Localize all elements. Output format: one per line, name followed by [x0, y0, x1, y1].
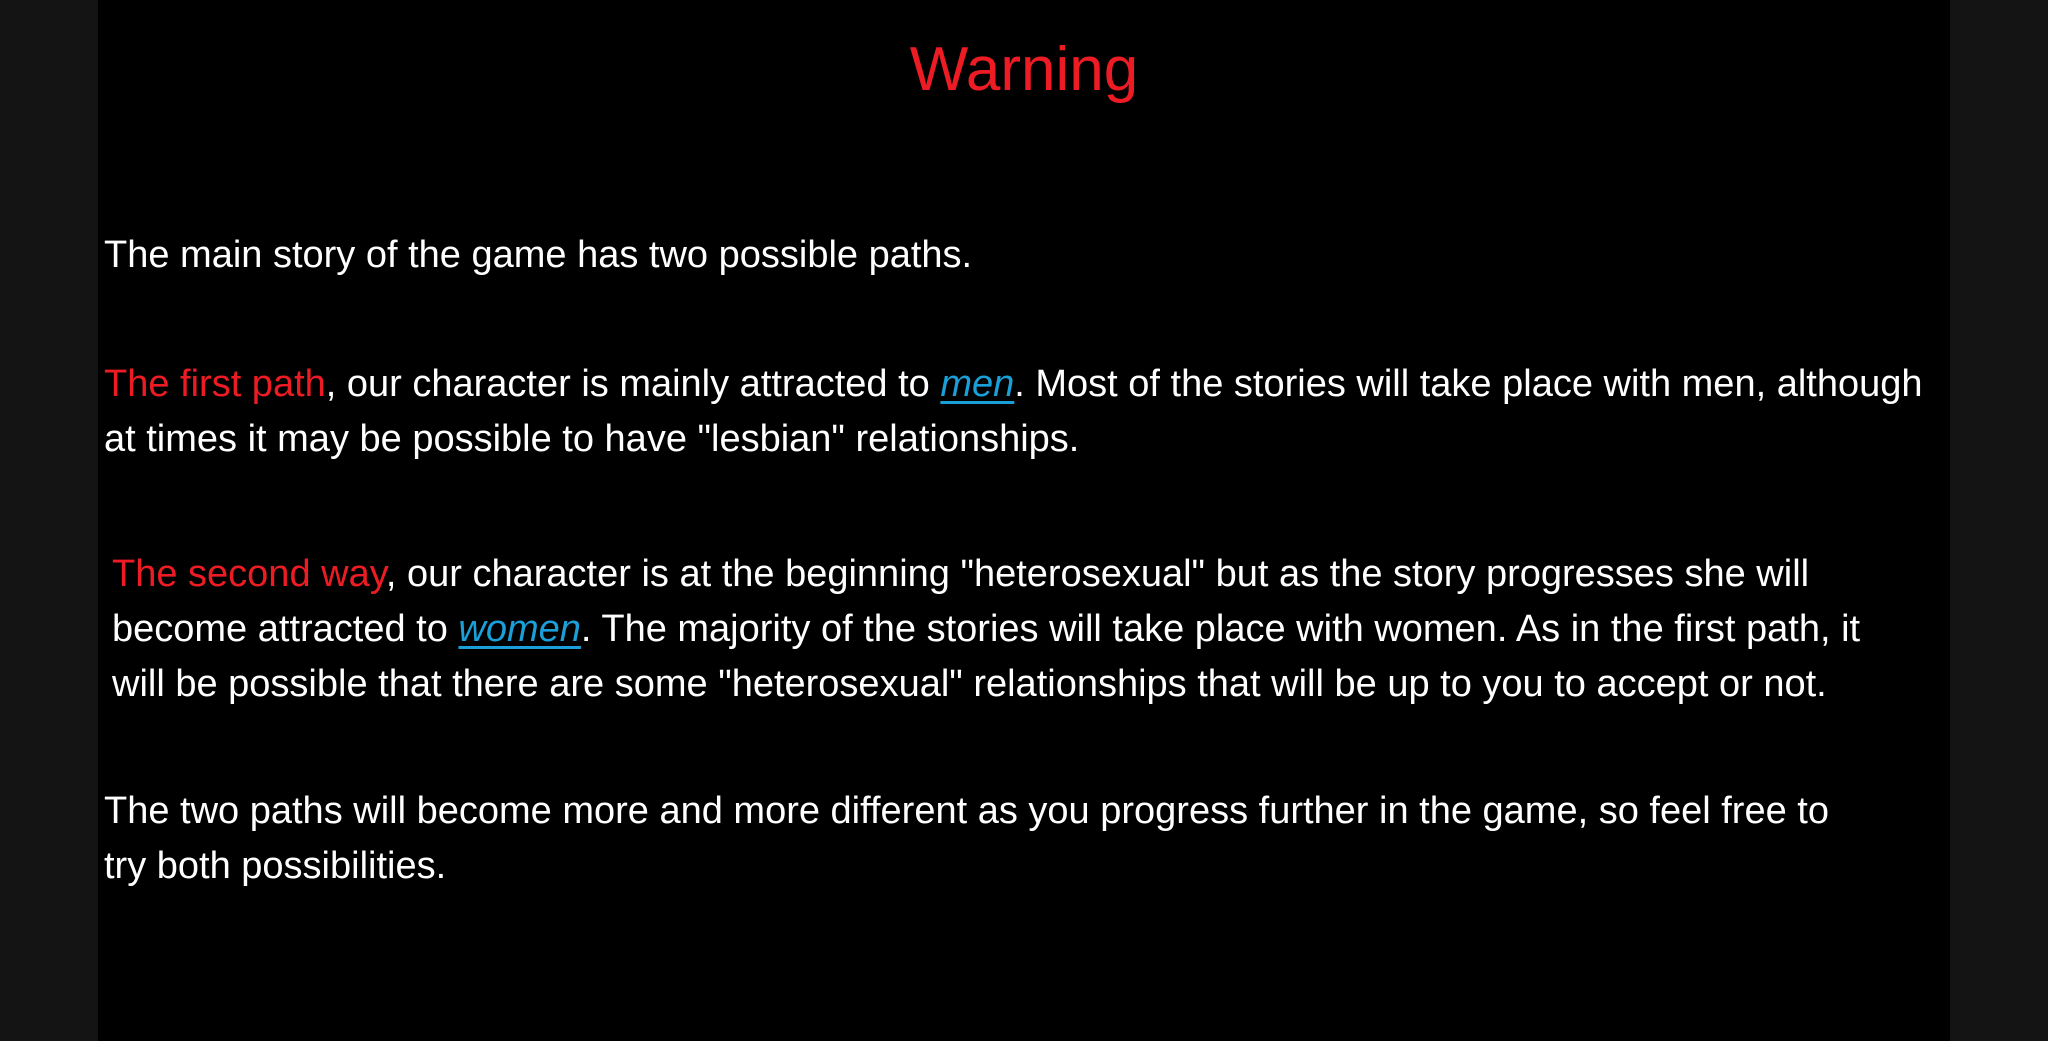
left-letterbox-band — [0, 0, 98, 1041]
paragraph-intro: The main story of the game has two possi… — [104, 228, 1944, 283]
page-title: Warning — [98, 36, 1950, 104]
right-letterbox-band — [1950, 0, 2048, 1041]
slide-screen: Warning The main story of the game has t… — [0, 0, 2048, 1041]
paragraph-intro-text: The main story of the game has two possi… — [104, 234, 972, 276]
first-path-text-before-link: , our character is mainly attracted to — [326, 363, 941, 405]
paragraph-outro-text: The two paths will become more and more … — [104, 790, 1829, 887]
slide-body: The main story of the game has two possi… — [104, 228, 1944, 894]
second-way-label: The second way — [112, 553, 386, 595]
link-women[interactable]: women — [458, 608, 581, 650]
paragraph-second-way: The second way, our character is at the … — [112, 547, 1912, 712]
first-path-label: The first path — [104, 363, 326, 405]
paragraph-outro: The two paths will become more and more … — [104, 784, 1864, 894]
paragraph-first-path: The first path, our character is mainly … — [104, 357, 1929, 467]
slide-canvas: Warning The main story of the game has t… — [98, 0, 1950, 1041]
link-men[interactable]: men — [940, 363, 1014, 405]
